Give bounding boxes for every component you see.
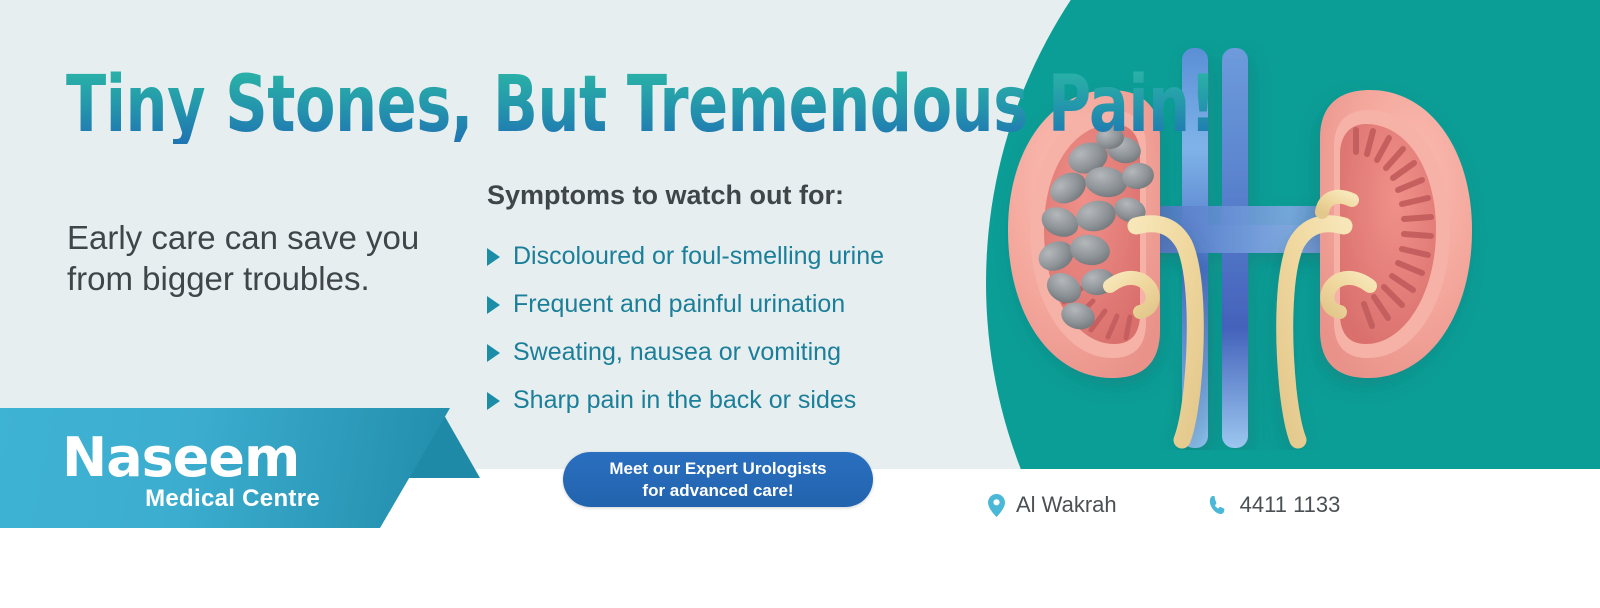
triangle-bullet-icon <box>487 248 500 266</box>
symptom-label: Sharp pain in the back or sides <box>513 386 856 415</box>
page-title: Tiny Stones, But Tremendous Pain! <box>66 66 1216 144</box>
location-item[interactable]: Al Wakrah <box>988 492 1117 518</box>
symptoms-heading: Symptoms to watch out for: <box>487 180 844 211</box>
list-item: Sharp pain in the back or sides <box>487 376 884 424</box>
subheadline: Early care can save you from bigger trou… <box>67 218 467 299</box>
symptom-label: Sweating, nausea or vomiting <box>513 338 841 367</box>
phone-number: 4411 1133 <box>1240 492 1341 518</box>
cta-line-2: for advanced care! <box>642 480 793 502</box>
cta-line-1: Meet our Expert Urologists <box>609 458 826 480</box>
triangle-bullet-icon <box>487 296 500 314</box>
list-item: Frequent and painful urination <box>487 280 884 328</box>
symptom-label: Discoloured or foul-smelling urine <box>513 242 884 271</box>
map-pin-icon <box>988 494 1005 517</box>
kidney-stones-ad-banner: Tiny Stones, But Tremendous Pain! Early … <box>0 0 1600 608</box>
cta-button[interactable]: Meet our Expert Urologists for advanced … <box>563 452 873 507</box>
logo-subtitle: Medical Centre <box>62 485 322 513</box>
list-item: Discoloured or foul-smelling urine <box>487 232 884 280</box>
healthy-kidney <box>1285 90 1472 440</box>
logo-name: Naseem <box>62 432 322 484</box>
contact-bar: Al Wakrah 4411 1133 <box>988 492 1340 518</box>
triangle-bullet-icon <box>487 392 500 410</box>
triangle-bullet-icon <box>487 344 500 362</box>
location-label: Al Wakrah <box>1016 492 1117 518</box>
phone-item[interactable]: 4411 1133 <box>1209 492 1341 518</box>
list-item: Sweating, nausea or vomiting <box>487 328 884 376</box>
symptoms-list: Discoloured or foul-smelling urine Frequ… <box>487 232 884 424</box>
phone-icon <box>1209 495 1229 516</box>
logo[interactable]: Naseem Medical Centre <box>62 432 322 513</box>
symptom-label: Frequent and painful urination <box>513 290 845 319</box>
